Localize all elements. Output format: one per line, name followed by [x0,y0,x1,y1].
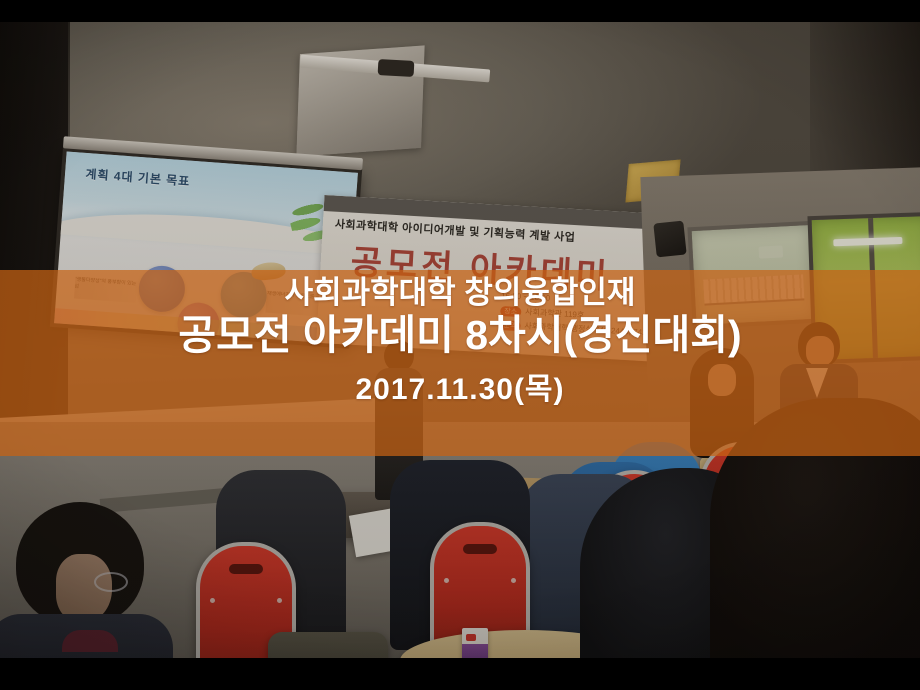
title-line-1: 사회과학대학 창의융합인재 [285,276,636,309]
wall-speaker [653,221,686,258]
title-overlay-band: 사회과학대학 창의융합인재 공모전 아카데미 8차시(경진대회) 2017.11… [0,270,920,456]
projector [378,59,415,77]
juice-carton [462,628,488,658]
foreground-person [0,502,170,658]
title-line-2: 공모전 아카데미 8차시(경진대회) [178,311,741,359]
letterbox-bottom [0,658,920,690]
letterbox-top [0,0,920,22]
event-photo-title-card: 계획 4대 기본 목표 "생물다양성"의 풍부함이 있는 섬 재생에너지의 자립… [0,0,920,690]
event-date: 2017.11.30(목) [355,372,564,408]
glasses-icon [94,572,128,592]
backpack [268,632,388,658]
